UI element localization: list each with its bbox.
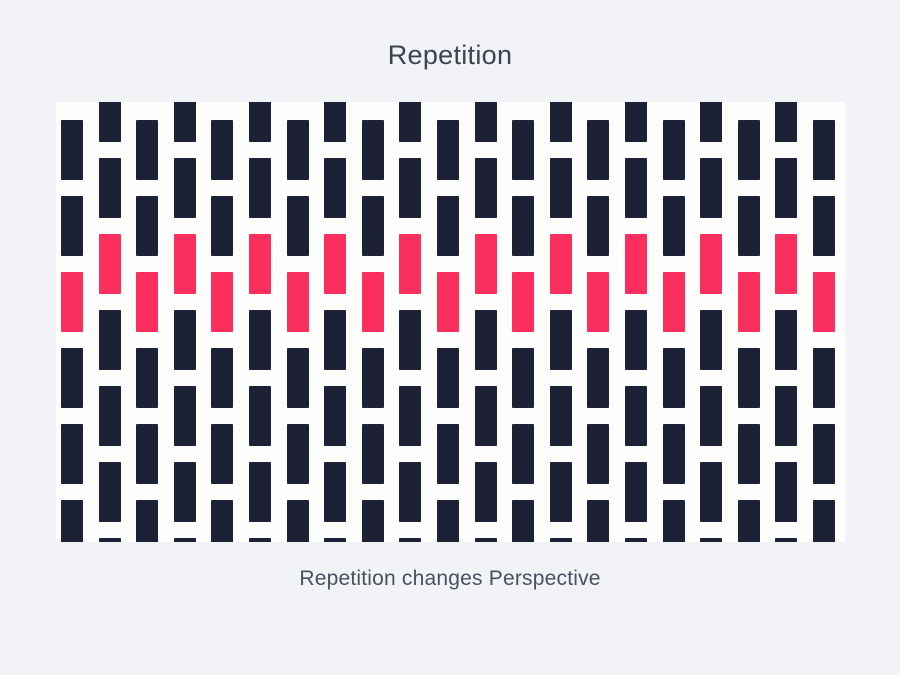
pattern-bar (249, 310, 271, 370)
accent-bar (738, 272, 760, 332)
pattern-bar (211, 348, 233, 408)
pattern-bar (399, 102, 421, 142)
pattern-bar (512, 196, 534, 256)
pattern-bar (249, 462, 271, 522)
pattern-bar (587, 196, 609, 256)
pattern-bar (512, 424, 534, 484)
accent-bar (136, 272, 158, 332)
pattern-bar (399, 462, 421, 522)
pattern-bar (61, 500, 83, 542)
pattern-bar (61, 120, 83, 180)
pattern-bar (324, 158, 346, 218)
accent-bar (700, 234, 722, 294)
pattern-bar (399, 538, 421, 542)
pattern-bar (550, 462, 572, 522)
pattern-bar (399, 310, 421, 370)
pattern-bar (437, 500, 459, 542)
pattern-bar (550, 386, 572, 446)
pattern-bar (249, 386, 271, 446)
accent-bar (512, 272, 534, 332)
slide-root: Repetition Repetition changes Perspectiv… (0, 0, 900, 675)
pattern-bar (136, 196, 158, 256)
pattern-bar (700, 102, 722, 142)
pattern-bar (663, 500, 685, 542)
pattern-bar (475, 158, 497, 218)
pattern-bar (287, 196, 309, 256)
pattern-bar (587, 120, 609, 180)
pattern-bar (136, 348, 158, 408)
pattern-bar (362, 120, 384, 180)
accent-bar (174, 234, 196, 294)
pattern-bar (625, 102, 647, 142)
pattern-bar (174, 386, 196, 446)
pattern-bar (136, 500, 158, 542)
pattern-bar (174, 158, 196, 218)
pattern-bar (399, 158, 421, 218)
accent-bar (249, 234, 271, 294)
pattern-bar (362, 424, 384, 484)
pattern-bar (625, 386, 647, 446)
pattern-bar (136, 120, 158, 180)
pattern-bar (211, 120, 233, 180)
accent-bar (775, 234, 797, 294)
accent-bar (211, 272, 233, 332)
pattern-bar (61, 348, 83, 408)
pattern-bar (663, 348, 685, 408)
accent-bar (625, 234, 647, 294)
pattern-bar (475, 310, 497, 370)
pattern-bar (775, 386, 797, 446)
pattern-bar (61, 424, 83, 484)
pattern-bar (437, 424, 459, 484)
accent-bar (324, 234, 346, 294)
pattern-bar (625, 158, 647, 218)
accent-bar (475, 234, 497, 294)
pattern-bar (437, 196, 459, 256)
pattern-bar (738, 196, 760, 256)
pattern-bar (775, 538, 797, 542)
pattern-bar (475, 538, 497, 542)
pattern-bar (399, 386, 421, 446)
pattern-bar (550, 158, 572, 218)
accent-bar (813, 272, 835, 332)
pattern-bar (512, 120, 534, 180)
pattern-bar (99, 102, 121, 142)
pattern-bar (174, 102, 196, 142)
pattern-bar (475, 386, 497, 446)
pattern-bar (211, 500, 233, 542)
pattern-bar (174, 310, 196, 370)
pattern-bar (700, 386, 722, 446)
pattern-bar (362, 500, 384, 542)
pattern-bar (813, 348, 835, 408)
pattern-bar (99, 310, 121, 370)
pattern-bar (174, 462, 196, 522)
pattern-bar (550, 102, 572, 142)
pattern-bar (775, 102, 797, 142)
slide-caption: Repetition changes Perspective (0, 567, 900, 591)
pattern-bar (700, 462, 722, 522)
pattern-bar (99, 158, 121, 218)
pattern-bar (362, 196, 384, 256)
accent-bar (437, 272, 459, 332)
pattern-bar (249, 538, 271, 542)
pattern-bar (738, 348, 760, 408)
pattern-bar (587, 348, 609, 408)
accent-bar (587, 272, 609, 332)
accent-bar (99, 234, 121, 294)
pattern-bar (625, 310, 647, 370)
pattern-bar (775, 158, 797, 218)
pattern-bar (211, 196, 233, 256)
pattern-bar (324, 538, 346, 542)
page-title: Repetition (0, 40, 900, 71)
pattern-bar (287, 120, 309, 180)
pattern-bar (287, 424, 309, 484)
pattern-bar (99, 538, 121, 542)
pattern-bar (512, 500, 534, 542)
pattern-bar (813, 500, 835, 542)
pattern-bar (249, 158, 271, 218)
accent-bar (362, 272, 384, 332)
pattern-bar (738, 120, 760, 180)
pattern-bar (700, 538, 722, 542)
pattern-bar (663, 424, 685, 484)
pattern-bar (663, 196, 685, 256)
accent-bar (550, 234, 572, 294)
pattern-bar (61, 196, 83, 256)
pattern-bar (475, 102, 497, 142)
pattern-panel (56, 102, 845, 542)
pattern-bar (362, 348, 384, 408)
pattern-bar (550, 538, 572, 542)
pattern-bar (136, 424, 158, 484)
pattern-bar (287, 500, 309, 542)
pattern-bar (775, 462, 797, 522)
pattern-bar (249, 102, 271, 142)
pattern-bar (663, 120, 685, 180)
pattern-bar (700, 310, 722, 370)
pattern-bar (738, 500, 760, 542)
pattern-bar (437, 120, 459, 180)
pattern-bar (324, 462, 346, 522)
pattern-bar (813, 120, 835, 180)
pattern-bar (437, 348, 459, 408)
pattern-bar (99, 462, 121, 522)
accent-bar (663, 272, 685, 332)
pattern-bar (587, 424, 609, 484)
pattern-bar (324, 386, 346, 446)
pattern-bar (813, 424, 835, 484)
pattern-bar (550, 310, 572, 370)
pattern-bar (813, 196, 835, 256)
pattern-bar (738, 424, 760, 484)
pattern-bar (775, 310, 797, 370)
pattern-bar (512, 348, 534, 408)
pattern-bar (287, 348, 309, 408)
pattern-bar (174, 538, 196, 542)
accent-bar (399, 234, 421, 294)
pattern-bar (625, 462, 647, 522)
pattern-bar (587, 500, 609, 542)
accent-bar (61, 272, 83, 332)
pattern-bar (324, 102, 346, 142)
pattern-bar (211, 424, 233, 484)
pattern-bar (475, 462, 497, 522)
accent-bar (287, 272, 309, 332)
pattern-bar (625, 538, 647, 542)
pattern-bar (700, 158, 722, 218)
pattern-bar (99, 386, 121, 446)
pattern-bar (324, 310, 346, 370)
